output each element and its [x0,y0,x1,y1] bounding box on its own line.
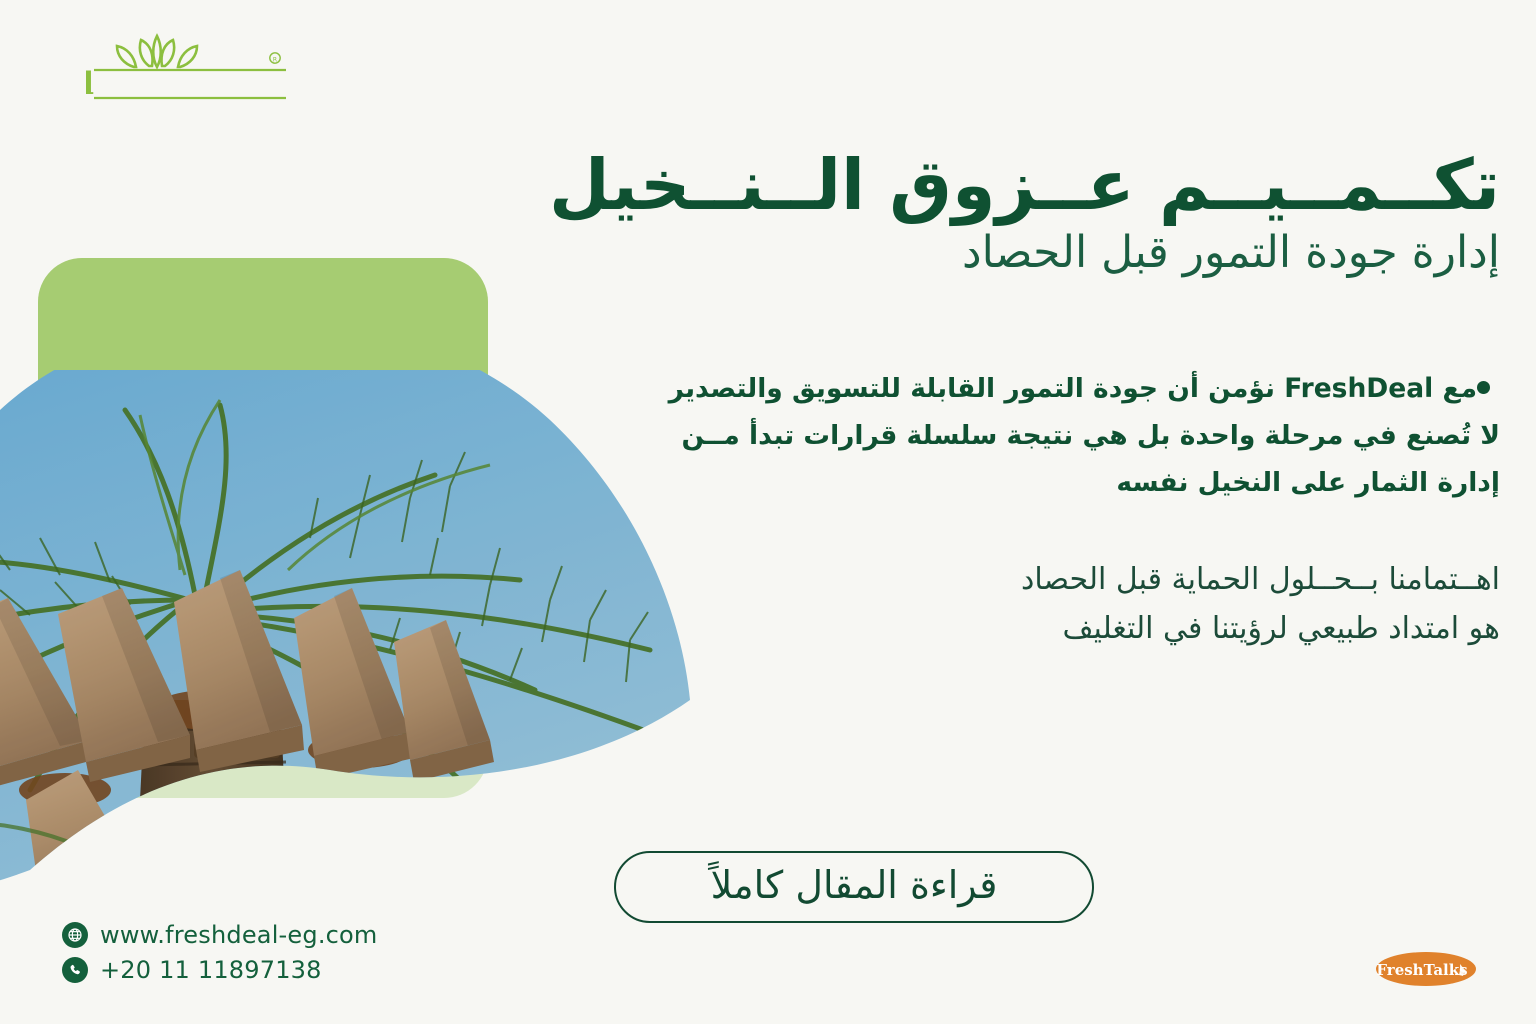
light-line-2: هو امتداد طبيعي لرؤيتنا في التغليف [840,605,1500,654]
trademark-glyph: R [273,56,277,63]
bold-paragraph: مع FreshDeal نؤمن أن جودة التمور القابلة… [470,365,1500,506]
read-full-article-button[interactable]: قراءة المقال كاملاً [614,851,1094,923]
freshdeal-logo-graphic: FreshDeal R [86,26,296,106]
leaf-plant-mark [117,36,197,67]
website-row[interactable]: www.freshdeal-eg.com [62,922,378,948]
phone-text: +20 11 11897138 [100,958,322,982]
freshdeal-logo[interactable]: FreshDeal R [86,26,296,106]
website-text: www.freshdeal-eg.com [100,923,378,947]
phone-row[interactable]: +20 11 11897138 [62,957,378,983]
contact-footer: www.freshdeal-eg.com +20 11 11897138 [62,922,378,992]
hero-artwork [0,240,700,900]
poster-canvas: FreshDeal R [0,0,1536,1024]
logo-wordmark: FreshDeal [86,66,94,102]
bold-line-2: لا تُصنع في مرحلة واحدة بل هي نتيجة سلسل… [470,412,1500,459]
light-paragraph: اهــتمامنا بــحــلول الحماية قبل الحصاد … [840,556,1500,653]
bold-line-3: إدارة الثمار على النخيل نفسه [470,459,1500,506]
bullet-icon [1477,381,1490,394]
logo-rules [94,70,286,98]
page-subtitle: إدارة جودة التمور قبل الحصاد [600,230,1500,276]
headline-block: تكــمــيــم عــزوق الــنــخيل إدارة جودة… [600,150,1500,276]
freshtalks-badge-graphic: FreshTalks [1372,950,1480,988]
badge-label: FreshTalks [1376,961,1467,979]
freshtalks-badge[interactable]: FreshTalks [1372,950,1480,988]
bold-line-1: مع FreshDeal نؤمن أن جودة التمور القابلة… [470,365,1500,412]
phone-icon [62,957,88,983]
page-title: تكــمــيــم عــزوق الــنــخيل [600,150,1500,220]
bold-line-1-text: مع FreshDeal نؤمن أن جودة التمور القابلة… [669,373,1477,404]
globe-icon [62,922,88,948]
light-line-1: اهــتمامنا بــحــلول الحماية قبل الحصاد [840,556,1500,605]
